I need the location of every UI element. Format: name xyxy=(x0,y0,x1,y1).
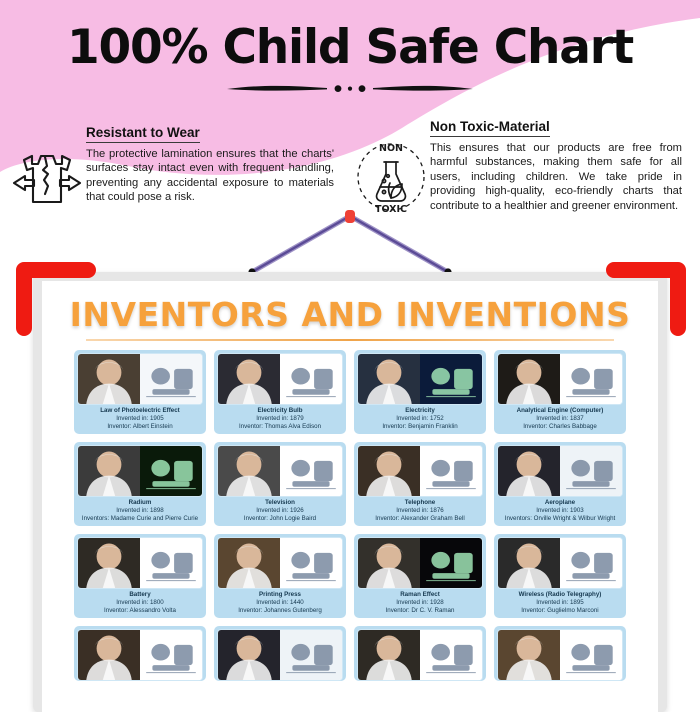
portrait-partial-2 xyxy=(218,630,280,680)
corner-bracket-right-icon xyxy=(602,248,694,340)
portrait-franklin xyxy=(358,354,420,404)
poster-title: INVENTORS AND INVENTIONS xyxy=(42,295,658,334)
card-invention-name: Raman Effect xyxy=(356,591,484,599)
card-invented-year: Invented in: 1903 xyxy=(496,507,624,515)
card-inventor-name: Inventor: Dr C. V. Raman xyxy=(356,607,484,615)
card-inventor-name: Inventor: Thomas Alva Edison xyxy=(216,423,344,431)
card-inventor-name: Inventor: Alessandro Volta xyxy=(76,607,204,615)
ornamental-divider-icon xyxy=(225,81,475,95)
inventor-card[interactable]: Battery Invented in: 1800 Inventor: Ales… xyxy=(74,534,206,618)
card-inventor-name: Inventors: Orville Wright & Wilbur Wrigh… xyxy=(496,515,624,523)
card-invention-name: Radium xyxy=(76,499,204,507)
card-invention-name: Law of Photoelectric Effect xyxy=(76,407,204,415)
rotary-and-modern-telephone xyxy=(420,446,482,496)
portrait-marconi xyxy=(498,538,560,588)
inventor-card[interactable]: Aeroplane Invented in: 1903 Inventors: O… xyxy=(494,442,626,526)
card-caption: Radium Invented in: 1898 Inventors: Mada… xyxy=(74,497,206,526)
portrait-einstein xyxy=(78,354,140,404)
inventor-card[interactable]: Analytical Engine (Computer) Invented in… xyxy=(494,350,626,434)
card-media xyxy=(497,537,623,589)
card-invented-year: Invented in: 1800 xyxy=(76,599,204,607)
telegraph-and-radio xyxy=(560,538,622,588)
card-invention-name: Electricity Bulb xyxy=(216,407,344,415)
inventor-card[interactable]: Printing Press Invented in: 1440 Invento… xyxy=(214,534,346,618)
card-caption: Aeroplane Invented in: 1903 Inventors: O… xyxy=(494,497,626,526)
card-media xyxy=(217,537,343,589)
portrait-baird xyxy=(218,446,280,496)
portrait-bell xyxy=(358,446,420,496)
card-media xyxy=(217,629,343,681)
card-media xyxy=(77,537,203,589)
poster-frame: INVENTORS AND INVENTIONS Law of Photoele… xyxy=(33,272,667,712)
voltaic-pile-and-battery xyxy=(140,538,202,588)
card-invented-year: Invented in: 1440 xyxy=(216,599,344,607)
card-caption: Battery Invented in: 1800 Inventor: Ales… xyxy=(74,589,206,618)
portrait-curies xyxy=(78,446,140,496)
card-invention-name: Aeroplane xyxy=(496,499,624,507)
poster-content: INVENTORS AND INVENTIONS Law of Photoele… xyxy=(42,281,658,712)
card-invention-name: Telephone xyxy=(356,499,484,507)
card-invented-year: Invented in: 1928 xyxy=(356,599,484,607)
card-inventor-name: Inventors: Madame Curie and Pierre Curie xyxy=(76,515,204,523)
card-invented-year: Invented in: 1898 xyxy=(76,507,204,515)
prism-light-dispersion xyxy=(420,538,482,588)
card-caption: Wireless (Radio Telegraphy) Invented in:… xyxy=(494,589,626,618)
card-media xyxy=(357,353,483,405)
card-invention-name: Analytical Engine (Computer) xyxy=(496,407,624,415)
card-media xyxy=(357,445,483,497)
inventor-card[interactable]: Law of Photoelectric Effect Invented in:… xyxy=(74,350,206,434)
card-media xyxy=(357,537,483,589)
inventor-card-partial[interactable] xyxy=(494,626,626,681)
object-partial-3 xyxy=(420,630,482,680)
object-partial-2 xyxy=(280,630,342,680)
card-inventor-name: Inventor: Albert Einstein xyxy=(76,423,204,431)
object-partial-4 xyxy=(560,630,622,680)
card-invented-year: Invented in: 1879 xyxy=(216,415,344,423)
feature-title: Non Toxic-Material xyxy=(430,119,550,137)
portrait-raman xyxy=(358,538,420,588)
portrait-edison xyxy=(218,354,280,404)
card-invented-year: Invented in: 1876 xyxy=(356,507,484,515)
inventor-card[interactable]: Wireless (Radio Telegraphy) Invented in:… xyxy=(494,534,626,618)
card-invention-name: Printing Press xyxy=(216,591,344,599)
corner-bracket-left-icon xyxy=(8,248,100,340)
inventor-card[interactable]: Telephone Invented in: 1876 Inventor: Al… xyxy=(354,442,486,526)
card-media xyxy=(217,445,343,497)
inventor-card[interactable]: Electricity Bulb Invented in: 1879 Inven… xyxy=(214,350,346,434)
light-bulbs xyxy=(280,354,342,404)
card-caption: Analytical Engine (Computer) Invented in… xyxy=(494,405,626,434)
card-media xyxy=(77,629,203,681)
biplane-and-jet xyxy=(560,446,622,496)
card-inventor-name: Inventor: Alexander Graham Bell xyxy=(356,515,484,523)
card-invented-year: Invented in: 1837 xyxy=(496,415,624,423)
card-caption: Raman Effect Invented in: 1928 Inventor:… xyxy=(354,589,486,618)
card-caption: Electricity Bulb Invented in: 1879 Inven… xyxy=(214,405,346,434)
poster-title-rule xyxy=(86,339,614,341)
portrait-volta xyxy=(78,538,140,588)
object-partial-1 xyxy=(140,630,202,680)
glowing-radium-clock xyxy=(140,446,202,496)
card-inventor-name: Inventor: Benjamin Franklin xyxy=(356,423,484,431)
card-media xyxy=(77,445,203,497)
inventor-card-partial[interactable] xyxy=(74,626,206,681)
inventor-card-partial[interactable] xyxy=(214,626,346,681)
nail-pin-icon xyxy=(345,210,355,223)
inventor-card[interactable]: Electricity Invented in: 1752 Inventor: … xyxy=(354,350,486,434)
card-inventor-name: Inventor: Guglielmo Marconi xyxy=(496,607,624,615)
electric-spark xyxy=(420,354,482,404)
old-and-new-television xyxy=(280,446,342,496)
portrait-partial-1 xyxy=(78,630,140,680)
card-inventor-name: Inventor: Charles Babbage xyxy=(496,423,624,431)
card-caption: Television Invented in: 1926 Inventor: J… xyxy=(214,497,346,526)
inventor-card-partial[interactable] xyxy=(354,626,486,681)
card-invented-year: Invented in: 1926 xyxy=(216,507,344,515)
portrait-babbage xyxy=(498,354,560,404)
printing-press-machines xyxy=(280,538,342,588)
card-inventor-name: Inventor: Johannes Gutenberg xyxy=(216,607,344,615)
feature-title: Resistant to Wear xyxy=(86,125,200,143)
card-invention-name: Wireless (Radio Telegraphy) xyxy=(496,591,624,599)
portrait-partial-3 xyxy=(358,630,420,680)
photoelectric-effect-diagram xyxy=(140,354,202,404)
card-media xyxy=(497,629,623,681)
card-invented-year: Invented in: 1895 xyxy=(496,599,624,607)
page-title: 100% Child Safe Chart xyxy=(67,20,633,75)
card-inventor-name: Inventor: John Logie Baird xyxy=(216,515,344,523)
card-media xyxy=(497,445,623,497)
card-caption: Printing Press Invented in: 1440 Invento… xyxy=(214,589,346,618)
card-media xyxy=(77,353,203,405)
portrait-gutenberg xyxy=(218,538,280,588)
card-invention-name: Battery xyxy=(76,591,204,599)
card-media xyxy=(497,353,623,405)
non-label: NON xyxy=(379,143,403,154)
inventor-card[interactable]: Television Invented in: 1926 Inventor: J… xyxy=(214,442,346,526)
portrait-wright-brothers xyxy=(498,446,560,496)
inventor-card[interactable]: Raman Effect Invented in: 1928 Inventor:… xyxy=(354,534,486,618)
inventor-card-grid: Law of Photoelectric Effect Invented in:… xyxy=(74,350,626,681)
analytical-engine-and-computer xyxy=(560,354,622,404)
card-caption: Telephone Invented in: 1876 Inventor: Al… xyxy=(354,497,486,526)
portrait-partial-4 xyxy=(498,630,560,680)
card-invention-name: Television xyxy=(216,499,344,507)
card-caption: Electricity Invented in: 1752 Inventor: … xyxy=(354,405,486,434)
inventor-card[interactable]: Radium Invented in: 1898 Inventors: Mada… xyxy=(74,442,206,526)
card-invented-year: Invented in: 1905 xyxy=(76,415,204,423)
card-invention-name: Electricity xyxy=(356,407,484,415)
card-media xyxy=(357,629,483,681)
card-invented-year: Invented in: 1752 xyxy=(356,415,484,423)
card-caption: Law of Photoelectric Effect Invented in:… xyxy=(74,405,206,434)
page-header: 100% Child Safe Chart xyxy=(0,0,700,110)
card-media xyxy=(217,353,343,405)
